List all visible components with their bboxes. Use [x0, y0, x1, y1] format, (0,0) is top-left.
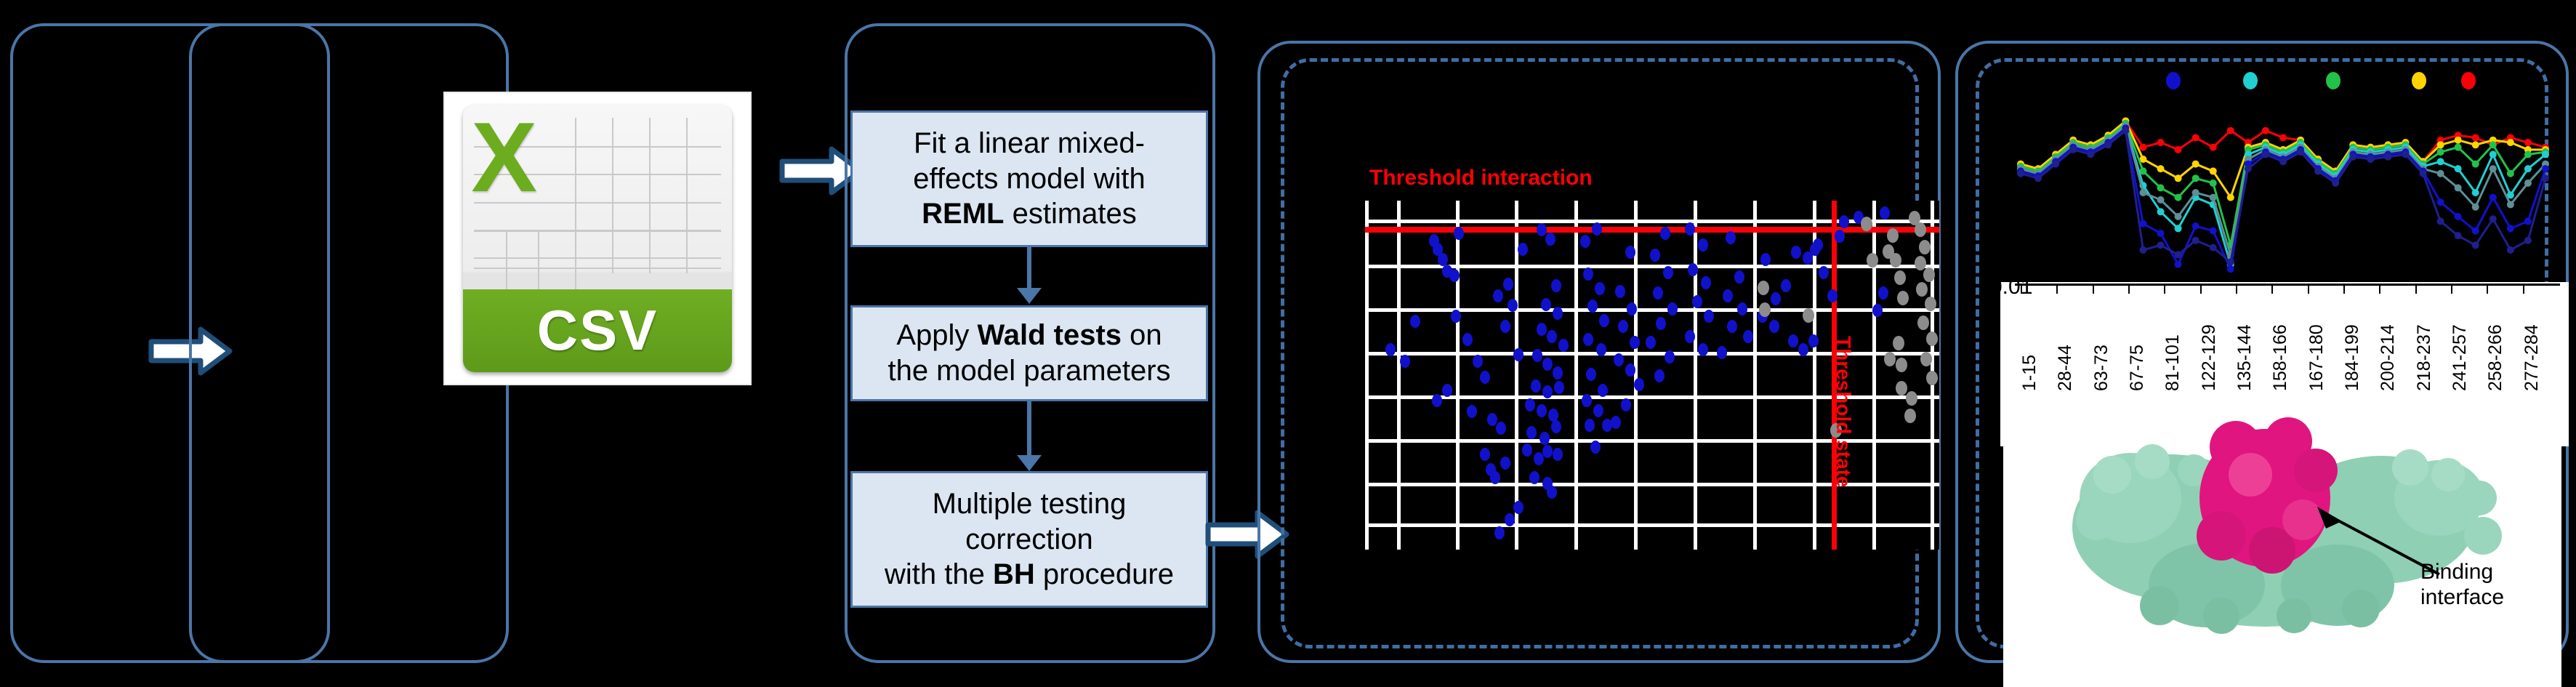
data-point	[1539, 432, 1550, 445]
data-point-other	[1897, 291, 1909, 305]
chart-data-point	[2297, 148, 2304, 156]
data-point	[1580, 235, 1590, 248]
peptide-line-chart-svg	[1999, 95, 2567, 284]
chart-data-point	[2490, 165, 2497, 172]
data-point-other	[1915, 256, 1926, 270]
chart-data-point	[2472, 161, 2479, 168]
chart-data-point	[2139, 246, 2146, 254]
data-point	[1473, 355, 1483, 368]
data-point	[1526, 426, 1537, 439]
data-point-other	[1861, 217, 1872, 231]
chart-data-point	[2157, 184, 2165, 191]
data-point-other	[1890, 253, 1901, 268]
data-point	[1513, 348, 1524, 361]
data-point	[1878, 286, 1888, 300]
data-point-other	[1926, 332, 1938, 346]
chart-data-point	[2542, 174, 2549, 182]
data-point	[1798, 343, 1808, 356]
flow-step-correction-line1: Multiple testing	[885, 486, 1174, 522]
data-point-other	[1884, 352, 1896, 366]
chart-data-point	[2472, 189, 2479, 196]
data-point	[1432, 394, 1442, 407]
data-point-other	[1867, 253, 1878, 268]
data-point	[1480, 371, 1490, 384]
chart-data-point	[2507, 139, 2514, 146]
chart-data-point	[2210, 144, 2217, 151]
data-point	[1660, 227, 1670, 240]
data-point	[1553, 307, 1563, 320]
chart-data-point	[2279, 158, 2287, 165]
threshold-interaction-line	[1365, 227, 1939, 233]
chart-data-point	[2542, 165, 2549, 172]
flow-step-correction-line3: with the BH procedure	[885, 557, 1174, 592]
legend-dot-series-2	[2243, 72, 2258, 89]
data-point	[1803, 252, 1813, 265]
data-point	[1537, 223, 1547, 236]
data-point	[1513, 501, 1524, 514]
data-point	[1587, 300, 1598, 313]
chart-data-point	[2420, 170, 2427, 177]
csv-format-band: CSV	[463, 289, 732, 372]
data-point-other	[1917, 316, 1929, 330]
grid-line-v	[1456, 201, 1460, 550]
data-point	[1525, 398, 1535, 411]
flow-step-correction-with: with the	[885, 558, 993, 590]
data-point	[1547, 486, 1557, 499]
data-point	[1743, 330, 1753, 343]
data-point	[1592, 222, 1602, 236]
chart-data-point	[2175, 261, 2182, 268]
data-point	[1490, 471, 1500, 484]
data-point	[1654, 369, 1665, 382]
data-point	[1537, 404, 1547, 417]
chart-data-point	[2455, 137, 2462, 144]
chart-data-point	[2402, 150, 2409, 158]
data-point	[1529, 471, 1539, 484]
chart-data-point	[2087, 150, 2094, 158]
data-point	[1500, 457, 1510, 470]
flow-step-wald-tests: Wald tests	[978, 319, 1122, 351]
data-point	[1698, 343, 1708, 356]
chart-data-point	[2455, 232, 2462, 239]
chart-data-point	[2210, 194, 2217, 201]
data-point	[1618, 320, 1628, 333]
chart-data-point	[2524, 217, 2532, 225]
excel-x-glyph: X	[471, 108, 563, 220]
chart-data-point	[2472, 241, 2479, 249]
chart-data-point	[2175, 213, 2182, 220]
data-point	[1839, 215, 1849, 228]
data-point	[1454, 227, 1464, 240]
legend-dot-series-1	[2166, 72, 2181, 89]
legend-dot-series-5	[2461, 72, 2476, 89]
flow-step-model[interactable]: Fit a linear mixed- effects model with R…	[850, 111, 1208, 247]
data-point	[1704, 310, 1714, 323]
chart-data-point	[2437, 141, 2444, 148]
chart-data-point	[2157, 208, 2165, 215]
data-point	[1688, 263, 1698, 276]
data-point-other	[1887, 228, 1899, 243]
data-point-other	[1923, 268, 1935, 282]
data-point	[1518, 243, 1528, 256]
data-point	[1723, 289, 1733, 302]
data-point	[1598, 384, 1608, 397]
flow-step-model-line2: effects model with	[913, 161, 1145, 197]
chart-data-point	[2104, 141, 2112, 148]
data-point	[1545, 233, 1555, 246]
data-point	[1442, 384, 1452, 397]
chart-data-point	[2472, 141, 2479, 148]
data-point	[1646, 336, 1656, 349]
chart-data-point	[2490, 215, 2497, 222]
data-point	[1537, 323, 1547, 336]
data-point	[1583, 333, 1593, 346]
data-point	[1494, 526, 1505, 539]
data-point-other	[1920, 352, 1932, 366]
chart-data-point	[2472, 228, 2479, 235]
data-point	[1698, 238, 1708, 252]
data-point-other	[1919, 240, 1931, 254]
data-point	[1692, 295, 1702, 308]
chart-data-point	[2157, 165, 2165, 172]
data-point-other	[1896, 358, 1907, 372]
chart-data-point	[2192, 189, 2199, 196]
flow-step-model-reml: REML	[922, 198, 1004, 230]
chart-data-point	[2192, 134, 2199, 141]
data-point	[1532, 349, 1542, 362]
data-point	[1656, 317, 1666, 330]
chart-data-point	[2490, 150, 2497, 158]
data-point	[1611, 416, 1621, 429]
data-point	[1558, 339, 1569, 352]
flow-step-correction[interactable]: Multiple testing correction with the BH …	[850, 471, 1208, 608]
flow-step-wald-line1: Apply Wald tests on	[887, 318, 1170, 353]
data-point	[1630, 336, 1640, 349]
chart-data-point	[2175, 174, 2182, 182]
chart-data-point	[2069, 146, 2077, 153]
grid-line-h	[1365, 523, 1939, 527]
data-point	[1665, 350, 1675, 363]
data-point	[1522, 443, 1532, 457]
data-point-other	[1803, 308, 1814, 323]
chart-data-point	[2262, 150, 2269, 158]
data-point	[1627, 302, 1637, 316]
data-point	[1621, 398, 1631, 411]
chart-data-point	[2490, 141, 2497, 148]
chart-data-point	[2507, 225, 2514, 232]
chart-data-point	[2210, 180, 2217, 187]
chart-data-point	[2437, 170, 2444, 177]
data-point	[1726, 231, 1736, 244]
data-point	[1496, 422, 1506, 435]
chart-data-point	[2210, 167, 2217, 174]
data-point	[1650, 249, 1660, 262]
data-point	[1599, 314, 1609, 327]
data-point	[1503, 278, 1513, 291]
threshold-interaction-label: Threshold interaction	[1369, 166, 1593, 190]
data-point	[1685, 222, 1695, 236]
chart-data-point	[2349, 153, 2356, 161]
data-point	[1701, 276, 1711, 289]
chart-data-point	[2455, 144, 2462, 151]
threshold-state-label: Threshold state	[1832, 336, 1855, 487]
data-point	[1717, 346, 1727, 359]
data-point-other	[1759, 302, 1771, 317]
data-point	[1400, 355, 1410, 368]
chart-data-point	[2017, 170, 2024, 177]
chart-series-line	[2021, 126, 2545, 254]
chart-data-point	[2139, 144, 2146, 151]
flow-step-wald-line2: the model parameters	[887, 353, 1170, 389]
binding-interface-line2: interface	[2420, 585, 2504, 611]
data-point	[1508, 299, 1518, 312]
chart-data-point	[2490, 194, 2497, 201]
chart-data-point	[2524, 180, 2532, 187]
protein-structure-card	[2003, 280, 2561, 687]
data-point	[1487, 413, 1497, 426]
data-point	[1493, 289, 1503, 302]
chart-data-point	[2192, 237, 2199, 244]
grid-line-h	[1365, 220, 1939, 223]
chart-data-point	[2507, 246, 2514, 254]
chart-data-point	[2192, 174, 2199, 182]
flow-step-model-estimates: estimates	[1005, 198, 1137, 230]
chart-data-point	[2437, 217, 2444, 225]
flow-step-wald-apply: Apply	[896, 319, 977, 351]
protein-structure-svg	[2003, 280, 2561, 687]
grid-line-v	[1694, 201, 1697, 550]
data-point	[1385, 343, 1396, 356]
chart-data-point	[2542, 150, 2549, 158]
flow-step-correction-proc: procedure	[1035, 558, 1174, 590]
data-point	[1737, 302, 1747, 316]
chart-data-point	[2175, 146, 2182, 153]
chart-data-point	[2227, 265, 2234, 273]
grid-line-v	[1365, 201, 1369, 550]
flow-step-model-line3: REML estimates	[913, 196, 1145, 232]
data-point	[1467, 405, 1477, 418]
data-point	[1596, 343, 1606, 356]
chart-data-point	[2157, 196, 2165, 204]
data-point	[1634, 378, 1644, 391]
data-point-other	[1896, 381, 1907, 395]
chart-data-point	[2157, 139, 2165, 146]
grid-line-h	[1365, 308, 1939, 312]
legend-dot-series-3	[2326, 72, 2340, 89]
data-point	[1880, 206, 1890, 220]
chart-data-point	[2052, 161, 2059, 168]
data-point	[1547, 330, 1557, 343]
chart-data-point	[2455, 165, 2462, 172]
data-point	[1582, 394, 1592, 407]
chart-data-point	[2227, 258, 2234, 265]
flow-step-correction-bh: BH	[993, 558, 1035, 590]
data-point	[1542, 445, 1553, 458]
flow-step-wald[interactable]: Apply Wald tests on the model parameters	[850, 305, 1208, 401]
data-point	[1791, 246, 1801, 259]
csv-format-label: CSV	[537, 297, 658, 363]
flow-arrowhead-1	[1017, 288, 1042, 304]
data-point	[1542, 358, 1553, 371]
data-point-other	[1926, 371, 1938, 385]
data-point	[1531, 379, 1541, 393]
data-point	[1685, 330, 1695, 343]
chart-data-point	[2332, 180, 2339, 187]
data-point	[1727, 320, 1737, 333]
data-point	[1583, 268, 1593, 281]
data-point	[1595, 282, 1605, 295]
data-point	[1462, 333, 1473, 346]
data-point	[1593, 404, 1603, 417]
data-point	[1771, 292, 1781, 305]
chart-data-point	[2524, 237, 2532, 244]
chart-data-point	[2227, 127, 2234, 134]
data-point	[1585, 419, 1595, 432]
data-point	[1480, 448, 1490, 461]
chart-data-point	[2210, 228, 2217, 235]
data-point-other	[1906, 391, 1917, 406]
chart-data-point	[2472, 204, 2479, 211]
chart-data-point	[2139, 189, 2146, 196]
chart-data-point	[2175, 251, 2182, 258]
chart-data-point	[2455, 213, 2462, 220]
chart-data-point	[2157, 230, 2165, 237]
data-point	[1667, 302, 1678, 316]
chart-data-point	[2507, 170, 2514, 177]
data-point	[1451, 310, 1461, 323]
data-point	[1542, 385, 1553, 398]
binding-interface-label: Binding interface	[2420, 560, 2504, 610]
data-point	[1553, 366, 1563, 379]
data-point-other	[1758, 281, 1769, 295]
chart-data-point	[2437, 148, 2444, 156]
chart-data-point	[2472, 134, 2479, 141]
chart-data-point	[2192, 222, 2199, 230]
flow-connector-2	[1027, 401, 1031, 458]
chart-data-point	[2262, 127, 2269, 134]
data-point	[1586, 368, 1596, 381]
chart-data-point	[2227, 194, 2234, 201]
data-point	[1449, 269, 1460, 282]
data-point	[1553, 448, 1563, 461]
chart-data-point	[2034, 174, 2042, 182]
data-point	[1653, 286, 1663, 300]
chart-data-point	[2524, 165, 2532, 172]
data-point	[1625, 363, 1635, 377]
data-point	[1663, 266, 1673, 279]
csv-file-icon: X CSV	[445, 93, 750, 384]
data-point	[1835, 230, 1845, 243]
chart-data-point	[2175, 225, 2182, 232]
data-point	[1541, 298, 1551, 311]
data-point	[1625, 246, 1635, 259]
flow-step-wald-on: on	[1122, 319, 1162, 351]
data-point-other	[1893, 336, 1904, 350]
data-point	[1500, 320, 1510, 333]
data-point	[1614, 353, 1624, 366]
chart-data-point	[2245, 165, 2252, 172]
data-point	[1734, 270, 1744, 284]
csv-icon-body: X CSV	[463, 105, 732, 372]
data-point	[1551, 279, 1561, 292]
binding-interface-line1: Binding	[2420, 560, 2504, 585]
chart-data-point	[2279, 134, 2287, 141]
chart-data-point	[2437, 198, 2444, 206]
data-point	[1554, 381, 1564, 394]
chart-data-point	[2367, 156, 2374, 163]
chart-data-point	[2175, 194, 2182, 201]
data-point	[1872, 304, 1883, 317]
grid-line-v	[1397, 201, 1401, 550]
data-point	[1615, 285, 1625, 298]
grid-line-v	[1753, 201, 1757, 550]
data-point	[1808, 334, 1819, 347]
data-point	[1781, 279, 1791, 292]
chart-data-point	[2157, 241, 2165, 249]
data-point	[1788, 334, 1798, 347]
data-point	[1551, 420, 1561, 433]
chart-data-point	[2384, 153, 2391, 161]
chart-data-point	[2210, 244, 2217, 252]
data-point-other	[1915, 222, 1926, 237]
chart-data-point	[2524, 150, 2532, 158]
data-point	[1410, 315, 1420, 328]
chart-data-point	[2507, 201, 2514, 208]
chart-data-point	[2524, 139, 2532, 146]
flow-connector-1	[1027, 247, 1031, 291]
data-point	[1819, 266, 1829, 279]
grid-line-v	[1574, 201, 1578, 550]
legend-dot-series-4	[2412, 72, 2426, 89]
chart-data-point	[2192, 161, 2199, 168]
chart-data-point	[2437, 158, 2444, 165]
data-point	[1590, 441, 1601, 454]
data-point-other	[1904, 409, 1916, 423]
chart-data-point	[2314, 167, 2322, 174]
flow-step-correction-line2: correction	[885, 522, 1174, 558]
data-point	[1827, 289, 1838, 302]
flow-step-model-line1: Fit a linear mixed-	[913, 126, 1145, 161]
data-point	[1505, 513, 1515, 526]
data-point	[1769, 320, 1779, 333]
flow-arrowhead-2	[1017, 455, 1042, 471]
data-point-other	[1925, 297, 1936, 311]
data-point-other	[1916, 282, 1928, 297]
data-point	[1760, 253, 1771, 266]
data-point-other	[1894, 270, 1906, 285]
peptide-line-chart	[1999, 95, 2567, 284]
chart-data-point	[2455, 184, 2462, 191]
chart-data-point	[2122, 127, 2129, 134]
